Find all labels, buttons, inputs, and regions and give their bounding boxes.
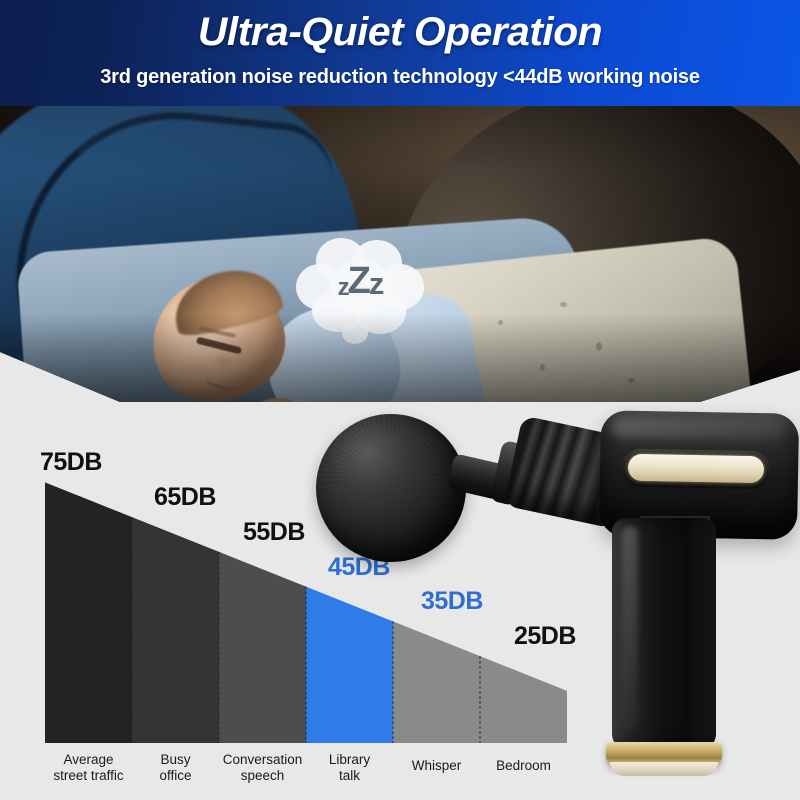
product-marketing-image: Ultra-Quiet Operation 3rd generation noi…	[0, 0, 800, 800]
chart-bar	[219, 552, 306, 743]
sleeping-baby-photo: zZz	[0, 106, 800, 402]
massage-gun-ball-head	[316, 414, 466, 562]
chart-bar	[45, 482, 132, 743]
sleep-thought-bubble: zZz	[296, 238, 424, 338]
chart-value-label: 65DB	[154, 483, 216, 512]
chart-value-label: 75DB	[40, 448, 102, 477]
blanket-speck	[596, 342, 602, 351]
blanket-speck	[540, 364, 545, 371]
chart-value-label: 55DB	[243, 518, 305, 547]
blanket-speck	[498, 320, 503, 325]
blanket-speck	[628, 378, 635, 383]
page-title: Ultra-Quiet Operation	[0, 10, 800, 55]
zzz-z-small: z	[338, 274, 348, 301]
massage-gun-product	[300, 398, 800, 800]
zzz-text: zZz	[296, 260, 424, 303]
blanket-speck	[560, 302, 567, 307]
massage-gun-base-cap	[610, 762, 718, 776]
massage-gun-body-highlight	[612, 419, 784, 442]
massage-gun-handle-highlight	[622, 526, 638, 732]
chart-bar	[132, 517, 219, 743]
bubble-tail	[342, 322, 368, 344]
massage-gun-display-screen	[628, 454, 764, 483]
zzz-z-large: Z	[348, 260, 369, 302]
page-subtitle: 3rd generation noise reduction technolog…	[0, 66, 800, 89]
zzz-z-medium: z	[369, 266, 383, 301]
header-banner: Ultra-Quiet Operation 3rd generation noi…	[0, 0, 800, 108]
